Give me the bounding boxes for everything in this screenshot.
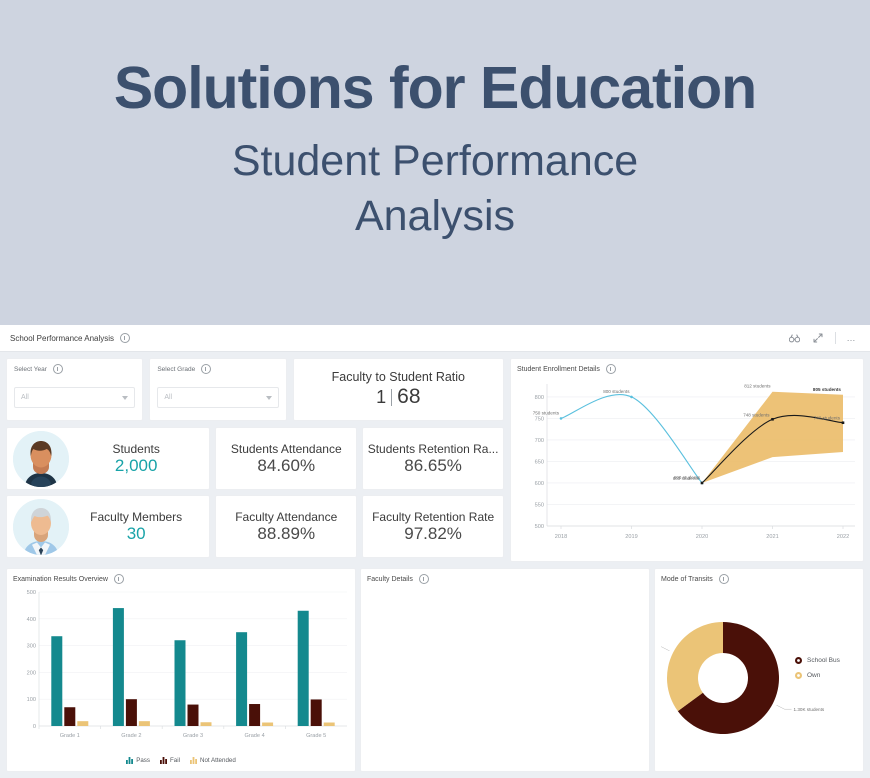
ratio-right: 68 — [397, 385, 420, 409]
svg-text:300: 300 — [27, 644, 36, 650]
svg-text:Grade 5: Grade 5 — [306, 733, 326, 739]
legend-swatch-icon — [795, 657, 802, 664]
svg-text:800 students: 800 students — [603, 389, 630, 394]
faculty-panel-title: Faculty Details — [367, 576, 413, 583]
kpi-faculty-retention: Faculty Retention Rate 97.82% — [362, 495, 504, 558]
filter-year-label-row: Select Year — [14, 364, 135, 374]
kpi-students-label: Students — [112, 442, 159, 456]
legend-label: Pass — [136, 757, 150, 764]
svg-text:Grade 3: Grade 3 — [183, 733, 203, 739]
filter-grade-label: Select Grade — [157, 366, 195, 373]
kpi-faculty-retention-value: 97.82% — [404, 524, 462, 544]
legend-item-not-attended[interactable]: Not Attended — [190, 757, 236, 764]
kpi-students-retention-label: Students Retention Ra... — [368, 442, 499, 456]
kpi-faculty-attendance: Faculty Attendance 88.89% — [215, 495, 357, 558]
info-icon[interactable] — [606, 364, 616, 374]
page-subtitle-line2: Analysis — [232, 189, 638, 244]
kpi-grid: Students 2,000 Students Attendance 84.60… — [0, 421, 510, 558]
enrollment-line-chart: 5005506006507007508002018201920202021202… — [517, 376, 859, 556]
hero-banner: Solutions for Education Student Performa… — [0, 0, 870, 325]
svg-text:Grade 1: Grade 1 — [60, 733, 80, 739]
exam-panel-title-row: Examination Results Overview — [13, 574, 349, 584]
ratio-divider — [391, 389, 392, 406]
kpi-students-attendance-label: Students Attendance — [231, 442, 342, 456]
svg-text:100: 100 — [27, 697, 36, 703]
svg-text:2021: 2021 — [766, 534, 778, 540]
grade-dropdown[interactable]: All — [157, 387, 278, 408]
info-icon[interactable] — [201, 364, 211, 374]
legend-bars-icon — [190, 757, 197, 764]
svg-text:0: 0 — [33, 724, 36, 730]
legend-swatch-icon — [795, 672, 802, 679]
kpi-row-students: Students 2,000 Students Attendance 84.60… — [6, 427, 504, 490]
legend-item-school-bus[interactable]: School Bus — [795, 657, 840, 664]
filter-select-year[interactable]: Select Year All — [6, 358, 143, 421]
faculty-panel-title-row: Faculty Details — [367, 574, 643, 584]
transit-panel-title-row: Mode of Transits — [661, 574, 857, 584]
filters-row: Select Year All Select Grade All — [0, 352, 510, 421]
svg-text:500: 500 — [535, 524, 544, 530]
kpi-students: Students 2,000 — [6, 427, 210, 490]
examination-results-panel: Examination Results Overview 01002003004… — [6, 568, 356, 772]
exam-bar-chart: 0100200300400500Grade 1Grade 2Grade 3Gra… — [13, 586, 351, 751]
header-divider — [835, 332, 836, 344]
svg-text:2019: 2019 — [625, 534, 637, 540]
faculty-details-panel: Faculty Details Faculty NameBranchEmailA… — [360, 568, 650, 772]
enrollment-panel-title-row: Student Enrollment Details — [517, 364, 857, 374]
transit-chart-legend: School BusOwn — [795, 657, 840, 679]
legend-label: Own — [807, 672, 820, 679]
kpi-students-attendance-value: 84.60% — [257, 456, 315, 476]
kpi-students-retention-value: 86.65% — [404, 456, 462, 476]
svg-text:650: 650 — [535, 459, 544, 465]
exam-chart-legend: PassFailNot Attended — [13, 757, 349, 764]
legend-bars-icon — [126, 757, 133, 764]
dashboard-title: School Performance Analysis — [10, 334, 114, 343]
svg-text:2022: 2022 — [837, 534, 849, 540]
info-icon[interactable] — [120, 333, 130, 343]
svg-text:740 students: 740 students — [814, 416, 841, 421]
kpi-students-retention: Students Retention Ra... 86.65% — [362, 427, 504, 490]
kpi-faculty-retention-label: Faculty Retention Rate — [372, 510, 494, 524]
chevron-down-icon — [122, 396, 128, 400]
filter-grade-label-row: Select Grade — [157, 364, 278, 374]
svg-text:500: 500 — [27, 590, 36, 596]
svg-text:812 students: 812 students — [744, 384, 771, 389]
legend-item-fail[interactable]: Fail — [160, 757, 180, 764]
kpi-students-text: Students 2,000 — [69, 442, 203, 476]
filter-select-grade[interactable]: Select Grade All — [149, 358, 286, 421]
info-icon[interactable] — [419, 574, 429, 584]
svg-text:2018: 2018 — [555, 534, 567, 540]
legend-label: Not Attended — [200, 757, 236, 764]
info-icon[interactable] — [719, 574, 729, 584]
enrollment-panel-title: Student Enrollment Details — [517, 366, 600, 373]
kpi-faculty-attendance-value: 88.89% — [257, 524, 315, 544]
svg-text:400: 400 — [27, 617, 36, 623]
kpi-faculty-text: Faculty Members 30 — [69, 510, 203, 544]
svg-text:750 students: 750 students — [533, 410, 560, 415]
dashboard-panel: School Performance Analysis … Select Yea… — [0, 325, 870, 778]
svg-text:Grade 4: Grade 4 — [244, 733, 264, 739]
kpi-students-attendance: Students Attendance 84.60% — [215, 427, 357, 490]
legend-item-pass[interactable]: Pass — [126, 757, 150, 764]
faculty-avatar — [13, 499, 69, 555]
svg-text:2020: 2020 — [696, 534, 708, 540]
kpi-faculty-members: Faculty Members 30 — [6, 495, 210, 558]
kpi-faculty-attendance-label: Faculty Attendance — [235, 510, 337, 524]
svg-text:600 students: 600 students — [673, 476, 700, 481]
legend-item-own[interactable]: Own — [795, 672, 840, 679]
expand-icon[interactable] — [809, 331, 827, 345]
svg-text:748 students: 748 students — [743, 412, 770, 417]
transit-panel-title: Mode of Transits — [661, 576, 713, 583]
ratio-left: 1 — [376, 387, 386, 408]
svg-text:550: 550 — [535, 502, 544, 508]
year-dropdown[interactable]: All — [14, 387, 135, 408]
svg-text:800: 800 — [535, 395, 544, 401]
chevron-down-icon — [266, 396, 272, 400]
student-avatar — [13, 431, 69, 487]
kpi-faculty-members-label: Faculty Members — [90, 510, 182, 524]
svg-text:Grade 2: Grade 2 — [121, 733, 141, 739]
filter-year-label: Select Year — [14, 366, 47, 373]
legend-bars-icon — [160, 757, 167, 764]
svg-text:750: 750 — [535, 416, 544, 422]
legend-label: Fail — [170, 757, 180, 764]
student-enrollment-panel: Student Enrollment Details 5005506006507… — [510, 358, 864, 562]
page-subtitle: Student Performance Analysis — [232, 134, 638, 244]
grade-dropdown-value: All — [164, 394, 172, 401]
exam-panel-title: Examination Results Overview — [13, 576, 108, 583]
more-options-icon[interactable]: … — [842, 331, 860, 345]
kpi-faculty-members-value: 30 — [127, 524, 146, 544]
page-subtitle-line1: Student Performance — [232, 134, 638, 189]
ratio-label: Faculty to Student Ratio — [332, 370, 465, 384]
legend-label: School Bus — [807, 657, 840, 664]
mode-of-transits-panel: Mode of Transits 1.30K students702 stude… — [654, 568, 864, 772]
dashboard-header: School Performance Analysis … — [0, 325, 870, 352]
svg-text:700: 700 — [535, 438, 544, 444]
kpi-students-value: 2,000 — [115, 456, 158, 476]
kpi-row-faculty: Faculty Members 30 Faculty Attendance 88… — [6, 495, 504, 558]
svg-text:805 students: 805 students — [813, 387, 842, 392]
faculty-student-ratio-card: Faculty to Student Ratio 1 68 — [293, 358, 504, 421]
year-dropdown-value: All — [21, 394, 29, 401]
svg-text:1.30K students: 1.30K students — [794, 707, 825, 712]
info-icon[interactable] — [114, 574, 124, 584]
info-icon[interactable] — [53, 364, 63, 374]
svg-text:600: 600 — [535, 481, 544, 487]
page-title: Solutions for Education — [114, 58, 756, 120]
binoculars-icon[interactable] — [785, 331, 803, 345]
svg-text:200: 200 — [27, 670, 36, 676]
ratio-value: 1 68 — [376, 385, 420, 409]
